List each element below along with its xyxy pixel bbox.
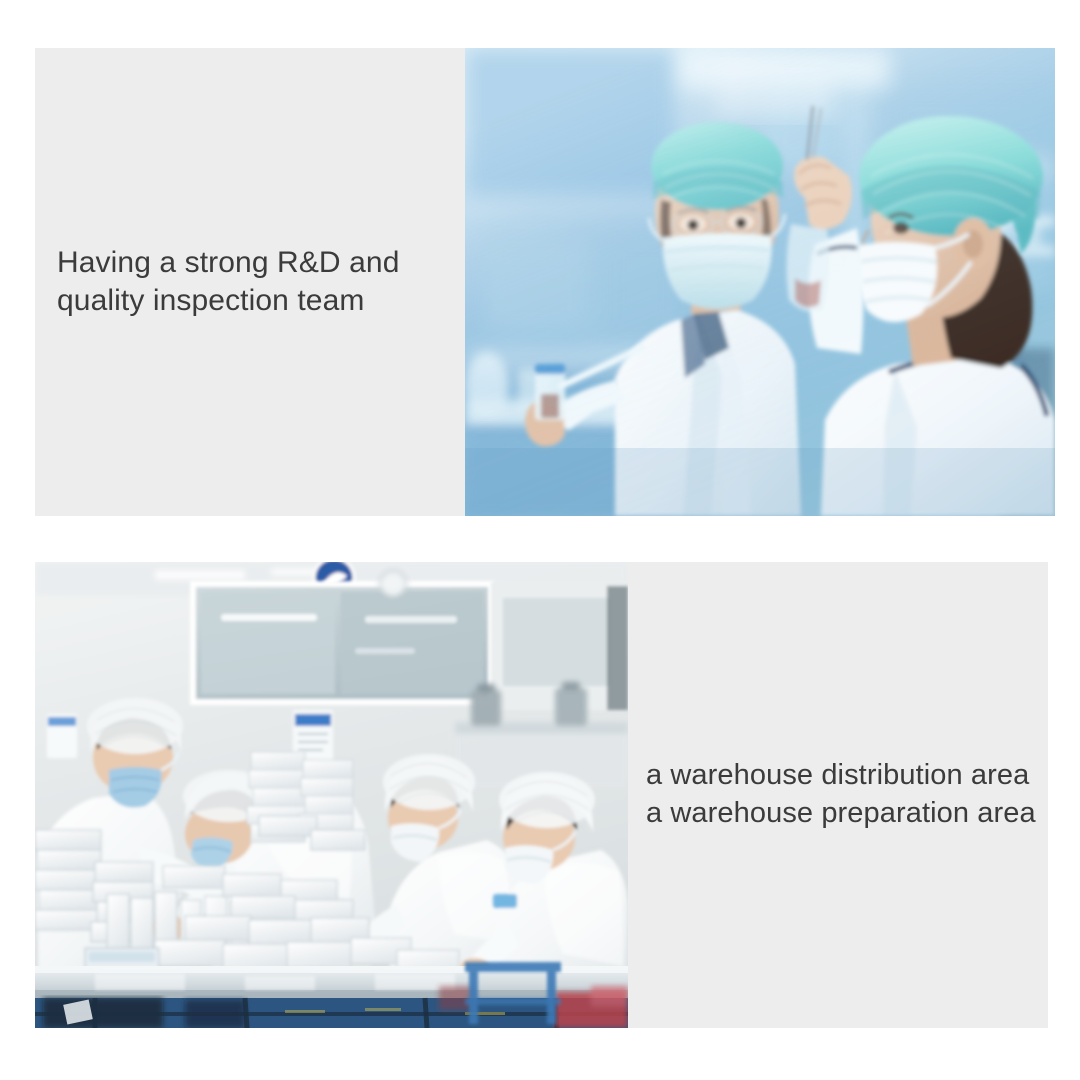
warehouse-packing-photo <box>35 562 628 1028</box>
lab-inspection-illustration <box>465 48 1055 516</box>
top-section: Having a strong R&D and quality inspecti… <box>0 0 1080 540</box>
warehouse-packing-illustration <box>35 562 628 1028</box>
top-caption-text: Having a strong R&D and quality inspecti… <box>35 244 409 321</box>
lab-inspection-photo <box>465 48 1055 516</box>
top-caption-panel: Having a strong R&D and quality inspecti… <box>35 48 467 516</box>
bottom-caption-panel: a warehouse distribution area a warehous… <box>628 562 1048 1028</box>
bottom-caption-text: a warehouse distribution area a warehous… <box>628 757 1044 832</box>
bottom-section: a warehouse distribution area a warehous… <box>0 540 1080 1080</box>
